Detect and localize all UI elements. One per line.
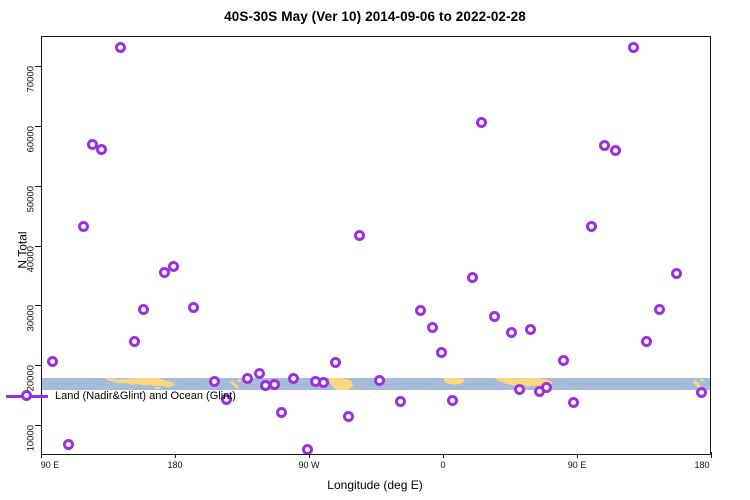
data-point [558,355,569,366]
data-point [476,117,487,128]
data-point [354,230,365,241]
data-point [276,407,287,418]
x-axis-tick-label: 0 [440,460,445,470]
data-point [671,268,682,279]
data-point [610,145,621,156]
data-point [525,324,536,335]
data-point [586,221,597,232]
y-axis-tick-label: 20000 [26,365,37,391]
data-point [78,221,89,232]
data-point [467,272,478,283]
data-point [628,42,639,53]
chart-title: 40S-30S May (Ver 10) 2014-09-06 to 2022-… [0,9,750,24]
data-point [415,305,426,316]
chart-figure: 40S-30S May (Ver 10) 2014-09-06 to 2022-… [0,0,750,500]
data-point [696,387,707,398]
data-point [599,140,610,151]
data-point [47,356,58,367]
y-axis-tick-label: 70000 [26,66,37,92]
data-point [427,322,438,333]
data-point [115,42,126,53]
data-point [302,444,313,455]
x-axis-tick-label: 180 [167,460,182,470]
data-point [395,396,406,407]
data-point [288,373,299,384]
x-axis-tick-label: 180 [694,460,709,470]
data-point [188,302,199,313]
data-point [138,304,149,315]
data-point [654,304,665,315]
x-axis-tick-label: 90 W [298,460,319,470]
data-point [330,357,341,368]
data-point [641,336,652,347]
y-axis-tick-label: 60000 [26,126,37,152]
data-point [269,379,280,390]
data-point [514,384,525,395]
data-point [568,397,579,408]
data-point [96,144,107,155]
data-point [129,336,140,347]
x-axis-label: Longitude (deg E) [0,478,750,492]
y-axis-tick-label: 30000 [26,305,37,331]
data-point [506,327,517,338]
legend-marker [6,390,48,402]
data-point [436,347,447,358]
x-axis-tick-labels: 90 E18090 W090 E180 [41,458,711,472]
data-point [541,382,552,393]
legend-circle-icon [21,390,32,401]
data-point [168,261,179,272]
chart-legend: Land (Nadir&Glint) and Ocean (Glint) [6,390,236,402]
x-axis-tick-label: 90 E [568,460,587,470]
data-point [447,395,458,406]
x-axis-tick [711,452,712,458]
y-axis-tick-label: 10000 [26,425,37,451]
legend-label: Land (Nadir&Glint) and Ocean (Glint) [55,390,236,402]
data-point [318,377,329,388]
x-axis-tick-label: 90 E [41,460,60,470]
data-point [63,439,74,450]
data-point [489,311,500,322]
y-axis-tick-label: 40000 [26,246,37,272]
data-point [343,411,354,422]
y-axis-tick-label: 50000 [26,186,37,212]
